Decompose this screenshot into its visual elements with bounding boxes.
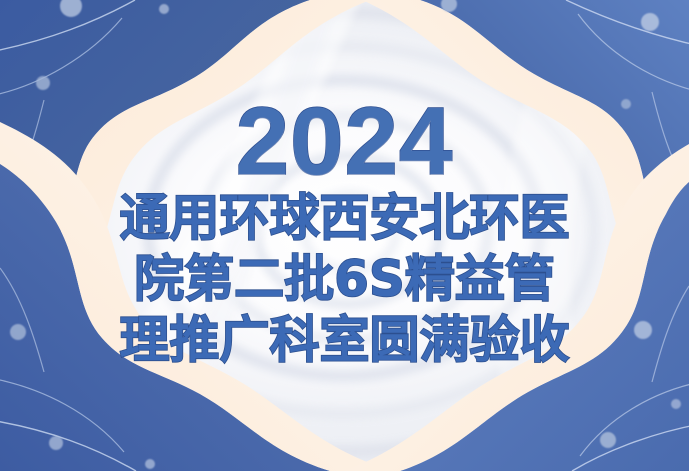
headline-line-3: 理推广科室圆满验收 [120, 314, 570, 367]
poster-canvas: 2024 通用环球西安北环医 院第二批6S精益管 理推广科室圆满验收 [0, 0, 689, 471]
year-heading: 2024 [236, 96, 454, 188]
headline-line-1: 通用环球西安北环医 [120, 192, 570, 245]
headline-line-2: 院第二批6S精益管 [134, 253, 555, 306]
poster-text-block: 2024 通用环球西安北环医 院第二批6S精益管 理推广科室圆满验收 [0, 0, 689, 471]
headline-group: 通用环球西安北环医 院第二批6S精益管 理推广科室圆满验收 [120, 192, 570, 367]
